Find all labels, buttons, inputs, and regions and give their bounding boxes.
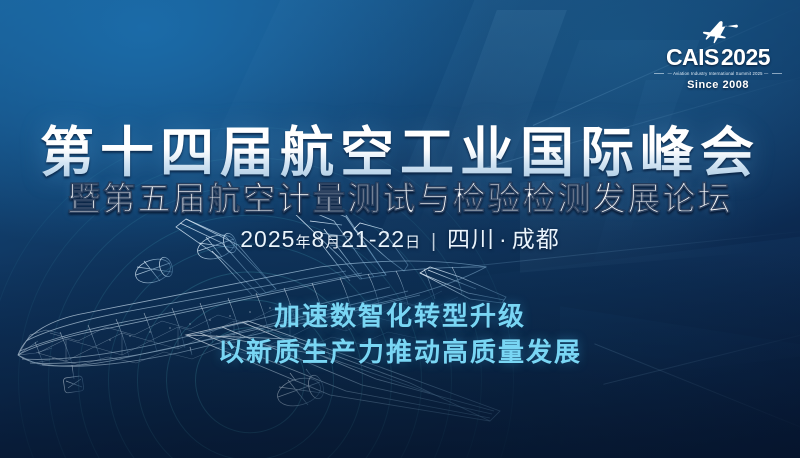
event-meta: 2025年8月21-22日|四川·成都 — [0, 220, 800, 254]
logo-year: 2025 — [721, 44, 770, 70]
page-subtitle: 暨第五届航空计量测试与检验检测发展论坛 — [0, 172, 800, 220]
event-province: 四川 — [447, 226, 495, 252]
tagline-primary: 加速数智化转型升级 — [0, 296, 800, 333]
airplane-icon — [696, 18, 740, 44]
event-month-unit: 月 — [325, 234, 341, 251]
logo-since-text: Since 2008 — [654, 79, 782, 91]
event-year-unit: 年 — [295, 234, 311, 251]
logo-divider-row: — Aviation Industry International Summit… — [654, 71, 782, 76]
logo-divider-right — [772, 73, 782, 74]
tagline-secondary: 以新质生产力推动高质量发展 — [0, 332, 800, 369]
meta-dot: · — [499, 226, 508, 252]
logo-acronym: CAIS — [666, 44, 719, 70]
logo-wordmark: CAIS2025 — [654, 46, 782, 69]
cais-logo: CAIS2025 — Aviation Industry Internation… — [654, 18, 782, 91]
event-month: 8 — [311, 226, 325, 252]
event-days: 21-22 — [341, 226, 405, 252]
logo-subtitle: — Aviation Industry International Summit… — [668, 71, 769, 76]
event-city: 成都 — [512, 226, 560, 252]
conference-banner: CAIS2025 — Aviation Industry Internation… — [0, 0, 800, 458]
event-year: 2025 — [240, 226, 295, 252]
meta-separator: | — [431, 231, 437, 252]
event-day-unit: 日 — [405, 234, 421, 251]
banner-content: CAIS2025 — Aviation Industry Internation… — [0, 0, 800, 458]
logo-divider-left — [654, 73, 664, 74]
